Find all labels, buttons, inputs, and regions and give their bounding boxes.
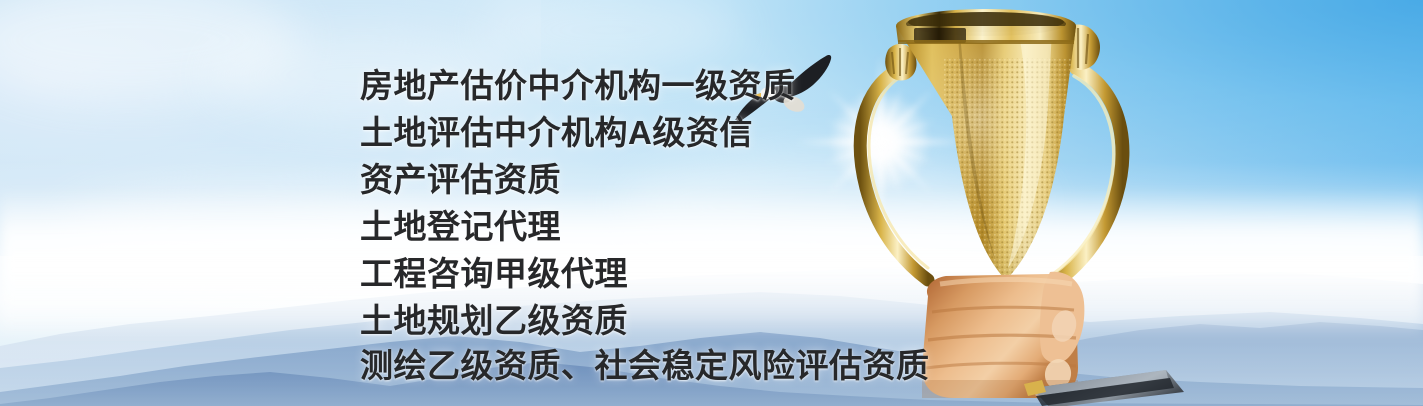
headline-line-5: 工程咨询甲级代理 [360,250,980,297]
hero-banner: 房地产估价中介机构一级资质 土地评估中介机构A级资信 资产评估资质 土地登记代理… [0,0,1423,406]
headline-list: 房地产估价中介机构一级资质 土地评估中介机构A级资信 资产评估资质 土地登记代理… [360,62,980,388]
headline-line-2: 土地评估中介机构A级资信 [360,109,980,156]
headline-line-6: 土地规划乙级资质 [360,297,980,344]
headline-line-4: 土地登记代理 [360,203,980,250]
headline-line-7: 测绘乙级资质、社会稳定风险评估资质 [360,344,980,388]
headline-line-1: 房地产估价中介机构一级资质 [360,62,980,109]
headline-line-3: 资产评估资质 [360,156,980,203]
